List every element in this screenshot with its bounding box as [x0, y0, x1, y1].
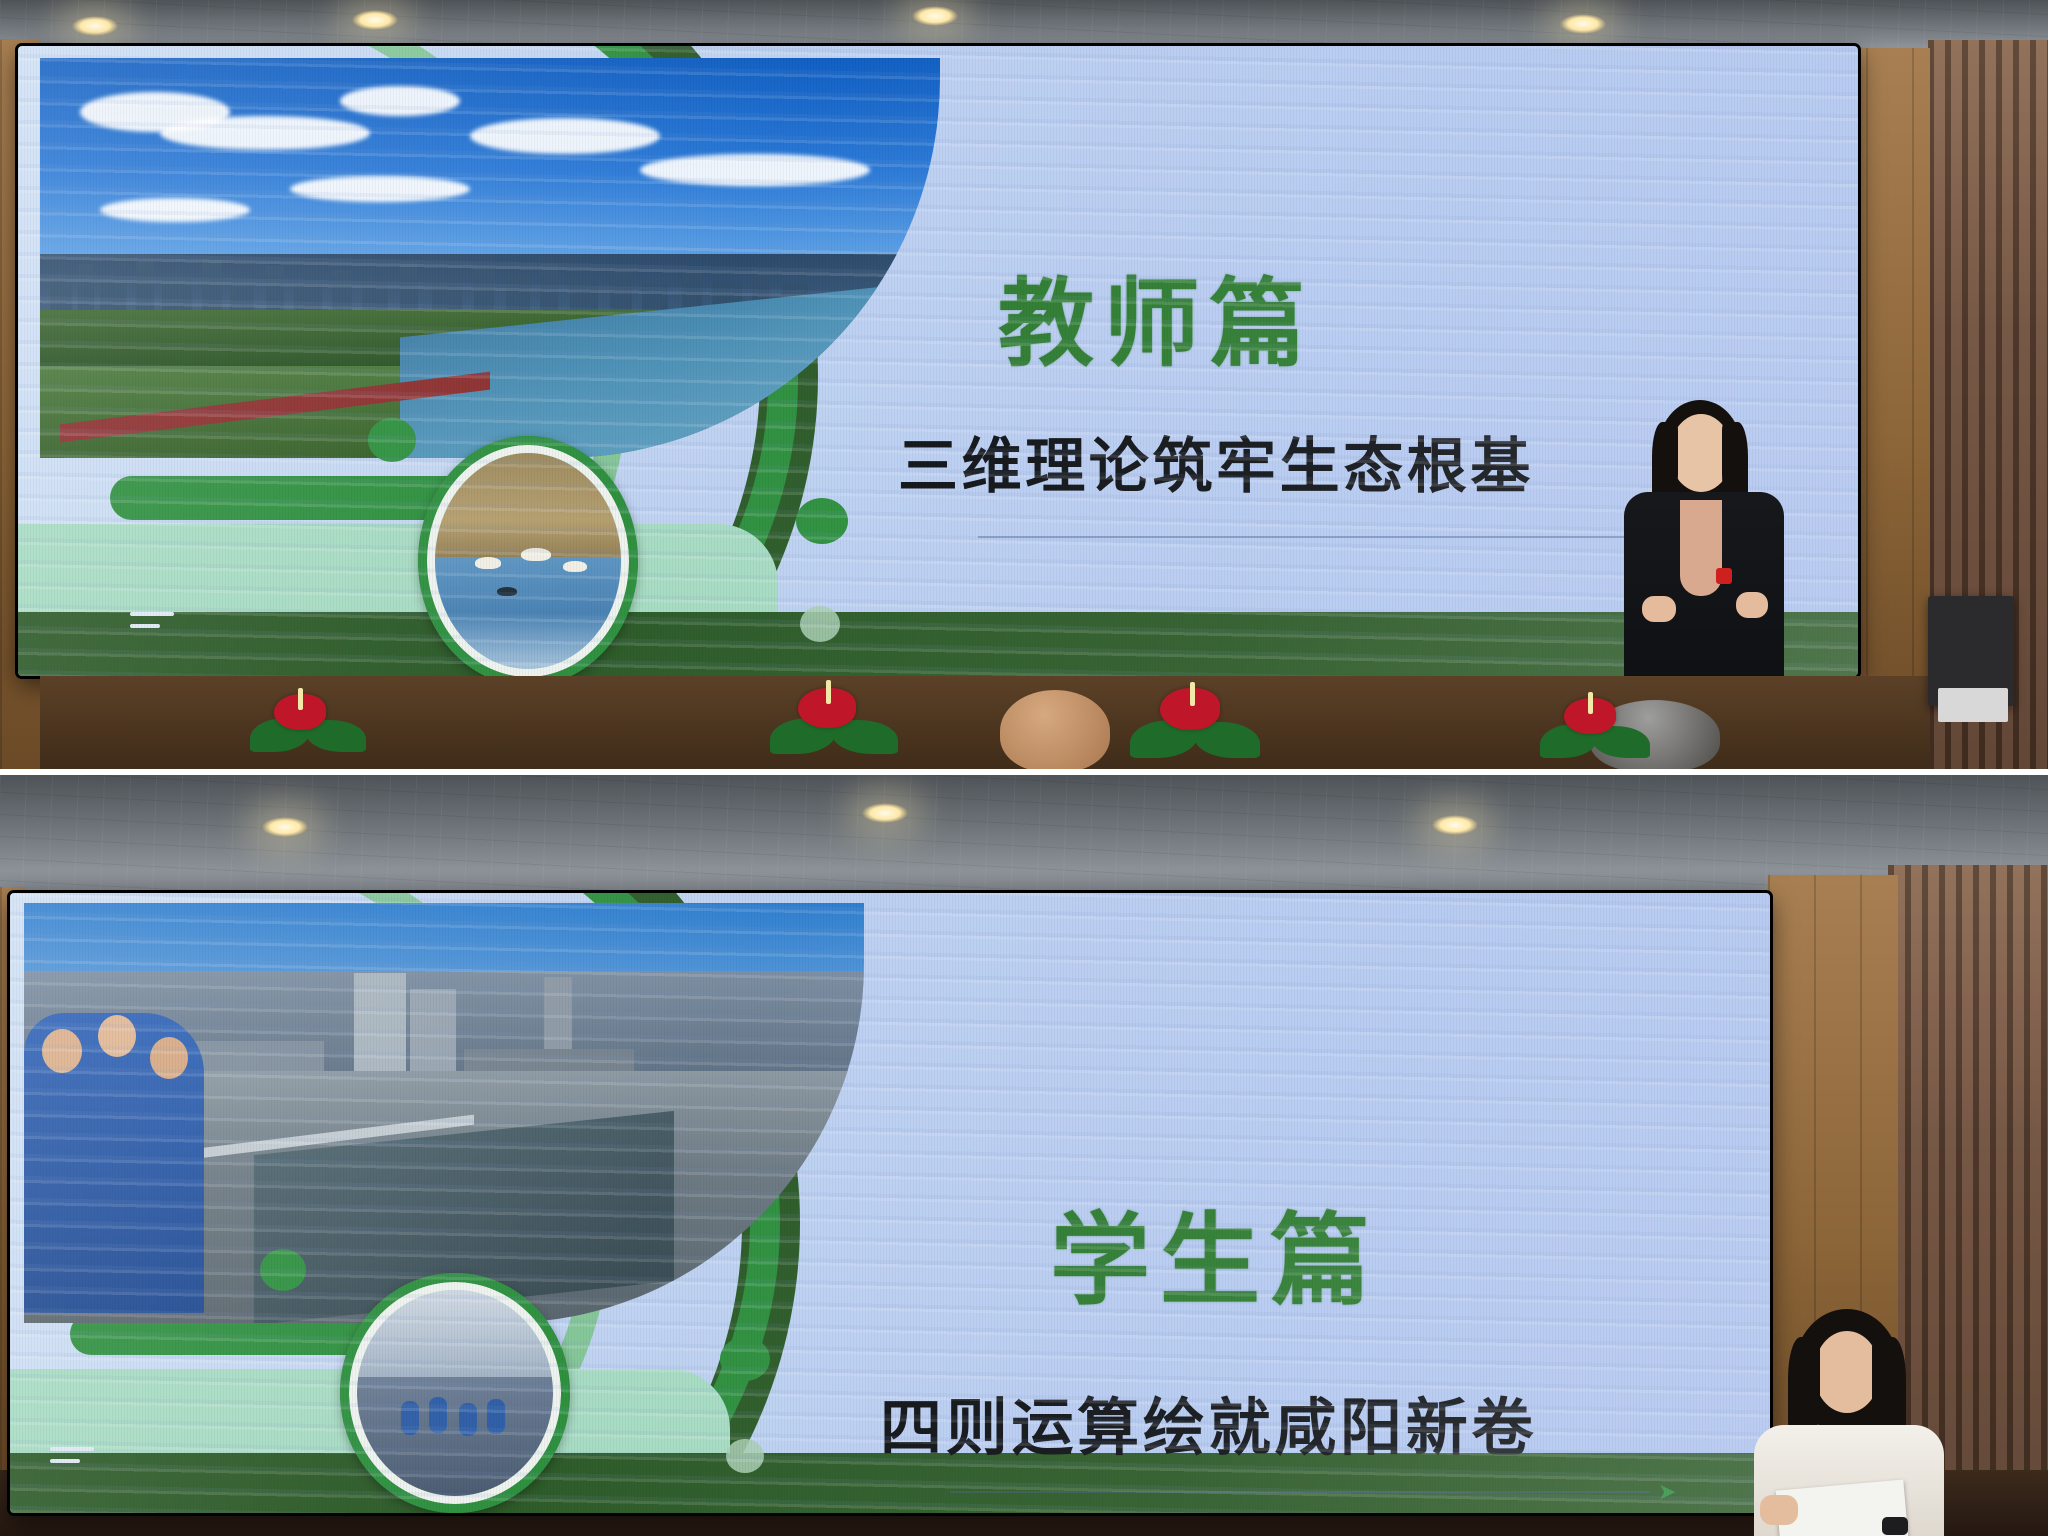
speaker-hand [1642, 596, 1676, 622]
slide-medallion [418, 436, 638, 676]
student-head [98, 1015, 136, 1057]
speaker-hand [1736, 592, 1768, 618]
student-head [42, 1029, 82, 1073]
slide-inset-photo [24, 903, 864, 1323]
photo-composite: 教师篇 三维理论筑牢生态根基 ➤ [0, 0, 2048, 1536]
panel-bottom-photo: 学生篇 四则运算绘就咸阳新卷 ➤ [0, 775, 2048, 1536]
slide-tick-mark [130, 612, 174, 616]
speaker-teacher [1590, 400, 1810, 720]
speaker-host [1730, 1309, 1970, 1536]
ceiling-light-2 [862, 803, 908, 823]
cloud [340, 86, 460, 116]
accent-dot-pale [800, 606, 840, 642]
ceiling-light-3 [912, 6, 958, 26]
ceiling-grid [0, 775, 2048, 903]
ceiling [0, 775, 2048, 903]
medallion-ring [418, 436, 638, 676]
slide-tick-mark [50, 1459, 80, 1463]
flower-arrangement [770, 680, 900, 769]
cloud [100, 198, 250, 222]
slide-medallion [340, 1273, 570, 1513]
spadix [1588, 692, 1593, 714]
slide-subtitle-top: 三维理论筑牢生态根基 [898, 418, 1534, 505]
speaker-watch [1882, 1517, 1908, 1535]
spadix [826, 680, 831, 704]
cloud [160, 116, 370, 150]
slide-canvas-top: 教师篇 三维理论筑牢生态根基 ➤ [18, 46, 1858, 676]
cloud [640, 154, 870, 186]
slide-pale-green-band [18, 524, 778, 612]
slide-subtitle-bottom: 四则运算绘就咸阳新卷 [880, 1377, 1537, 1467]
spadix [1190, 682, 1195, 706]
speaker-head [1814, 1331, 1880, 1413]
accent-dot-green [260, 1249, 306, 1291]
medallion-ring [340, 1273, 570, 1513]
led-screen-top: 教师篇 三维理论筑牢生态根基 ➤ [18, 46, 1858, 676]
slide-inset-photo [40, 58, 940, 458]
flower-arrangement [1540, 688, 1650, 769]
slide-tick-mark [130, 624, 160, 628]
ceiling-light-3 [1432, 815, 1478, 835]
led-screen-bottom: 学生篇 四则运算绘就咸阳新卷 ➤ [10, 893, 1770, 1513]
accent-dot-pale [726, 1439, 764, 1473]
slide-subtitle-rule [978, 536, 1678, 538]
ceiling-light-2 [352, 10, 398, 30]
flower-arrangement [250, 684, 370, 768]
audience-head-shape [1000, 690, 1110, 769]
slide-arrow-icon: ➤ [1658, 1481, 1676, 1503]
ceiling-light-4 [1560, 14, 1606, 34]
wall-control-panel [1938, 688, 2008, 722]
ceiling-light-1 [72, 16, 118, 36]
slide-title-bottom: 学生篇 [1050, 1179, 1380, 1324]
slide-bottom-green-band [18, 612, 1858, 676]
slide-tick-mark [50, 1447, 94, 1451]
cloud [290, 176, 470, 202]
accent-dot-green [720, 1337, 770, 1381]
cloud [470, 118, 660, 154]
accent-dot-green [796, 498, 848, 544]
decorative-pill [110, 476, 470, 520]
spadix [298, 688, 303, 710]
student-head [150, 1037, 188, 1079]
slide-subtitle-rule [950, 1491, 1650, 1493]
ceiling-light-1 [262, 817, 308, 837]
slide-title-top: 教师篇 [998, 246, 1315, 385]
speaker-hand [1760, 1495, 1798, 1525]
accent-dot-green [368, 418, 416, 462]
slide-canvas-bottom: 学生篇 四则运算绘就咸阳新卷 ➤ [10, 893, 1770, 1513]
panel-top-photo: 教师篇 三维理论筑牢生态根基 ➤ [0, 0, 2048, 769]
speaker-party-badge [1716, 568, 1732, 584]
flower-arrangement [1130, 680, 1260, 769]
audience-head [1000, 690, 1110, 769]
